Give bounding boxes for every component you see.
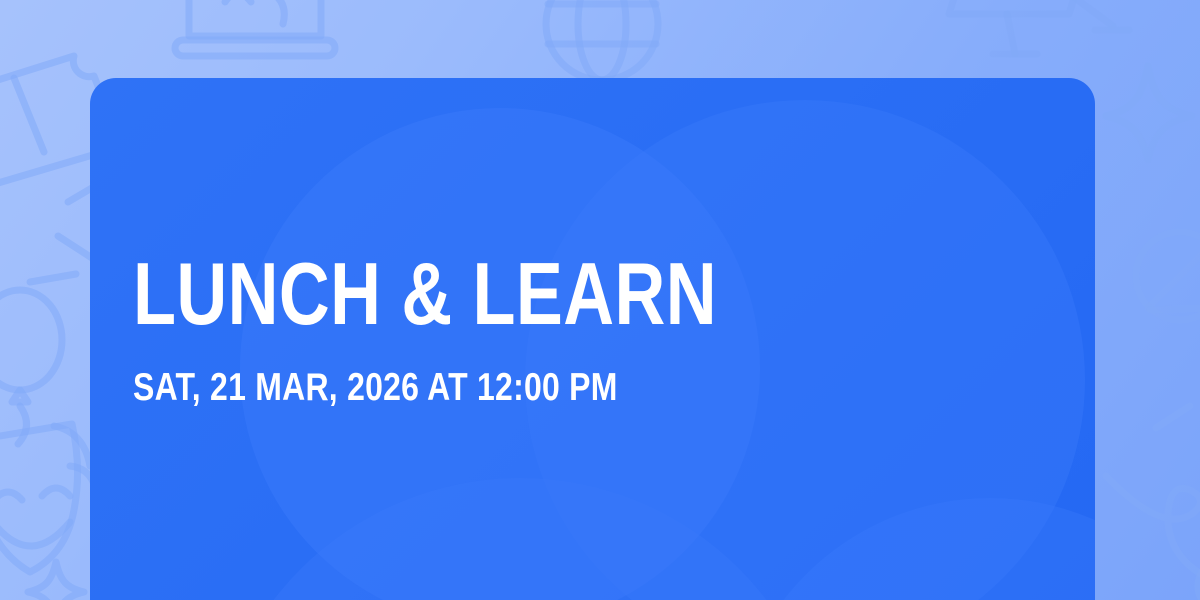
event-date-time: Sat, 21 Mar, 2026 at 12:00 PM: [133, 368, 871, 407]
balloon-icon: [0, 288, 82, 438]
event-card: Lunch & Learn Sat, 21 Mar, 2026 at 12:00…: [90, 78, 1095, 600]
event-title: Lunch & Learn: [133, 251, 853, 337]
event-card-content: Lunch & Learn Sat, 21 Mar, 2026 at 12:00…: [133, 78, 1033, 600]
confetti-dash-icon: [1150, 398, 1200, 438]
podium-icon: [945, 0, 1135, 78]
microphone-icon: [1128, 228, 1200, 378]
streamer-icon: [1100, 458, 1200, 600]
confetti-dash-icon: [24, 262, 84, 292]
laptop-presentation-icon: [155, 0, 355, 80]
sparkle-icon: [26, 556, 86, 600]
event-poster: Lunch & Learn Sat, 21 Mar, 2026 at 12:00…: [0, 0, 1200, 600]
sparkle-icon: [1098, 58, 1198, 168]
